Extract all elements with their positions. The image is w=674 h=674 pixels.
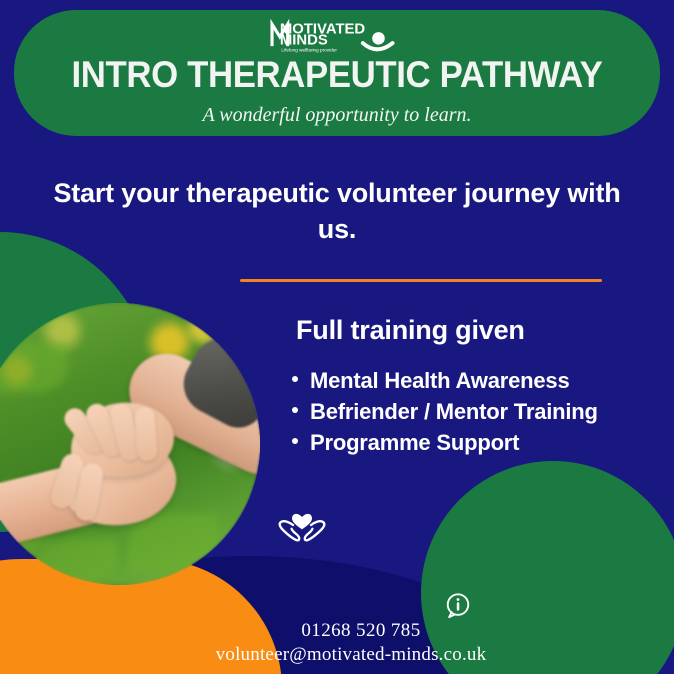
list-item-label: Mental Health Awareness <box>310 365 570 396</box>
photo-finger <box>134 406 158 461</box>
page-subtitle: A wonderful opportunity to learn. <box>14 104 660 127</box>
header-panel: MOTIVATED MINDS Lifelong wellbeing provi… <box>14 10 660 136</box>
logo-person-head-icon <box>372 32 385 45</box>
contact-phone[interactable]: 01268 520 785 <box>24 620 674 642</box>
training-heading: Full training given <box>296 315 525 346</box>
heart-in-hands-icon <box>278 503 326 549</box>
contact-email[interactable]: volunteer@motivated-minds.co.uk <box>14 644 674 666</box>
info-icon <box>444 592 472 620</box>
photo-foliage <box>38 538 118 584</box>
list-item-label: Programme Support <box>310 427 519 458</box>
bullet-icon <box>292 376 298 382</box>
photo-foliage <box>128 513 218 573</box>
photo-foliage <box>0 343 68 393</box>
training-list: Mental Health Awareness Befriender / Men… <box>292 365 598 459</box>
list-item: Befriender / Mentor Training <box>292 396 598 427</box>
bullet-icon <box>292 438 298 444</box>
motivated-minds-logo: MOTIVATED MINDS Lifelong wellbeing provi… <box>269 18 405 54</box>
logo-tagline: Lifelong wellbeing provider <box>281 48 337 53</box>
list-item-label: Befriender / Mentor Training <box>310 396 598 427</box>
orange-divider <box>240 279 602 282</box>
list-item: Mental Health Awareness <box>292 365 598 396</box>
poster-canvas: MOTIVATED MINDS Lifelong wellbeing provi… <box>0 0 674 674</box>
hands-photo <box>0 303 260 585</box>
list-item: Programme Support <box>292 427 598 458</box>
page-title: INTRO THERAPEUTIC PATHWAY <box>33 54 640 96</box>
headline-text: Start your therapeutic volunteer journey… <box>52 175 622 247</box>
bullet-icon <box>292 407 298 413</box>
